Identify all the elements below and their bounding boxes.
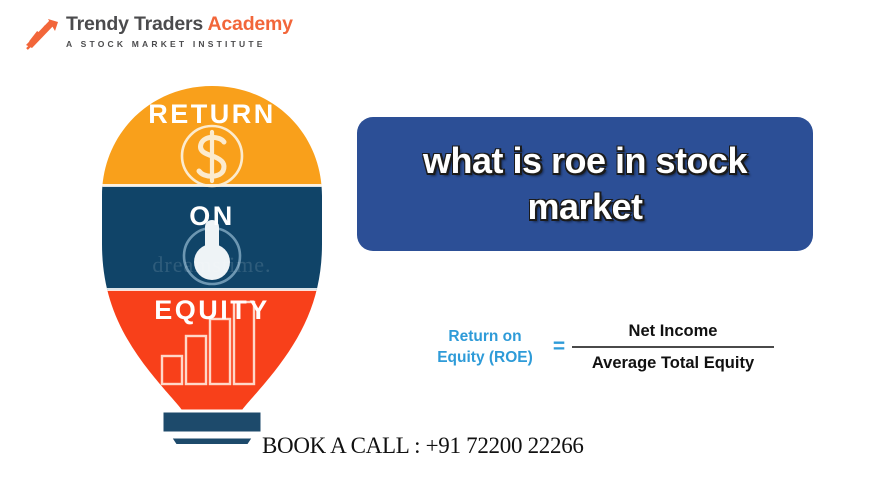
logo-title-primary: Trendy Traders	[66, 13, 203, 35]
logo-title: Trendy Traders Academy	[66, 12, 316, 36]
trend-arrow-icon	[20, 18, 60, 52]
formula-fraction: Net Income Average Total Equity	[572, 319, 774, 375]
banner-title-text: what is roe in stock market	[375, 138, 795, 230]
logo-text: Trendy Traders Academy A STOCK MARKET IN…	[66, 12, 316, 50]
roe-lightbulb-graphic: RETURN ON EQUITY dreamstime.	[98, 84, 326, 444]
logo-tagline: A STOCK MARKET INSTITUTE	[66, 39, 316, 50]
lightbulb-illustration	[98, 84, 326, 444]
brand-logo[interactable]: Trendy Traders Academy A STOCK MARKET IN…	[18, 10, 318, 60]
roe-formula: Return on Equity (ROE) = Net Income Aver…	[424, 308, 774, 386]
formula-equals-sign: =	[546, 335, 572, 359]
book-a-call-text: BOOK A CALL : +91 72200 22266	[262, 433, 662, 459]
slide-canvas: Trendy Traders Academy A STOCK MARKET IN…	[0, 0, 870, 489]
bulb-base	[162, 411, 262, 444]
formula-label-line2: Equity (ROE)	[424, 347, 546, 368]
formula-denominator: Average Total Equity	[572, 351, 774, 375]
logo-title-accent: Academy	[208, 13, 293, 35]
formula-label: Return on Equity (ROE)	[424, 326, 546, 368]
title-banner: what is roe in stock market	[357, 117, 813, 251]
formula-numerator: Net Income	[572, 319, 774, 343]
fraction-bar	[572, 346, 774, 348]
formula-label-line1: Return on	[424, 326, 546, 347]
